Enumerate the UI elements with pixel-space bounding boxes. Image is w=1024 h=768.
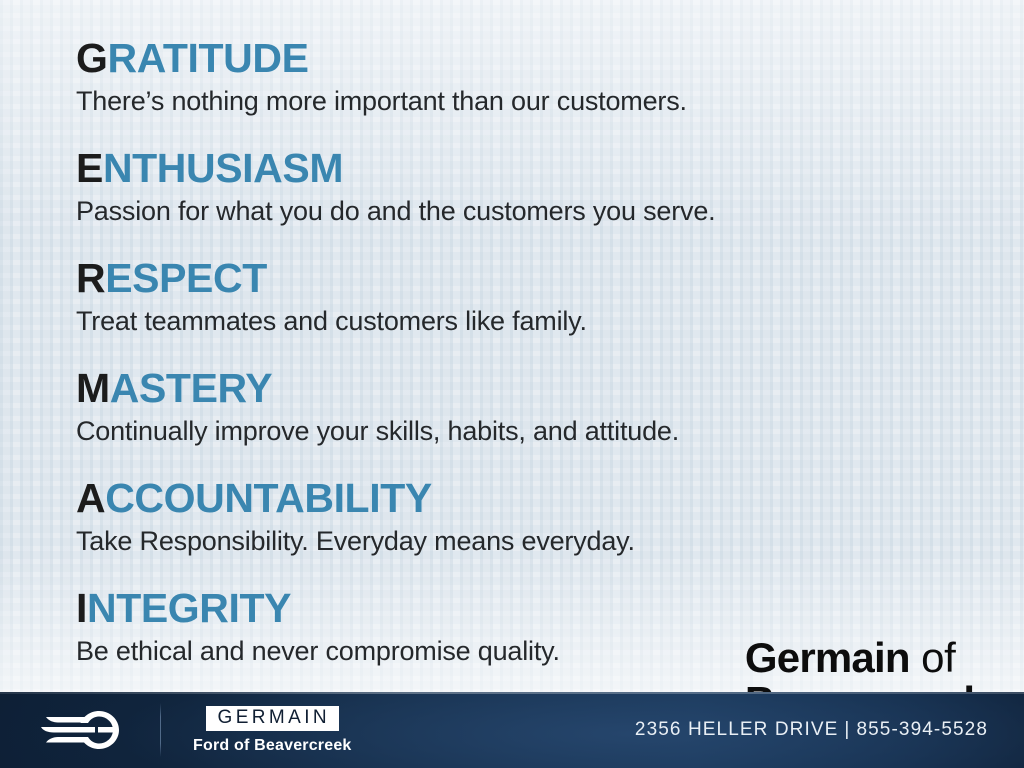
footer-contact-info: 2356 HELLER DRIVE|855-394-5528 [635,719,1024,741]
dealer-phone: 855-394-5528 [856,719,988,740]
germain-wordmark: GERMAIN [206,706,339,731]
value-subtitle-gratitude: There’s nothing more important than our … [76,88,1024,115]
brand-lockup-strong: Germain [745,634,910,681]
value-block-enthusiasm: ENTHUSIASM Passion for what you do and t… [0,148,1024,225]
value-lead-letter: E [76,145,103,191]
value-block-respect: RESPECT Treat teammates and customers li… [0,258,1024,335]
value-heading-gratitude: GRATITUDE [76,38,1024,79]
germain-winged-g-logo-icon [40,707,124,753]
footer-wordmark-group: GERMAIN Ford of Beavercreek [193,706,352,755]
contact-separator: | [838,719,856,740]
value-lead-letter: G [76,35,108,81]
value-lead-letter: M [76,365,110,411]
footer-bar: GERMAIN Ford of Beavercreek 2356 HELLER … [0,692,1024,768]
value-block-mastery: MASTERY Continually improve your skills,… [0,368,1024,445]
value-block-gratitude: GRATITUDE There’s nothing more important… [0,38,1024,115]
value-lead-letter: A [76,475,105,521]
dealer-address: 2356 HELLER DRIVE [635,719,839,740]
value-rest-letters: ASTERY [110,365,272,411]
value-subtitle-enthusiasm: Passion for what you do and the customer… [76,198,1024,225]
value-rest-letters: CCOUNTABILITY [105,475,432,521]
value-heading-accountability: ACCOUNTABILITY [76,478,1024,519]
value-block-accountability: ACCOUNTABILITY Take Responsibility. Ever… [0,478,1024,555]
value-rest-letters: RATITUDE [108,35,309,81]
value-heading-integrity: INTEGRITY [76,588,1024,629]
value-rest-letters: NTHUSIASM [103,145,343,191]
value-heading-respect: RESPECT [76,258,1024,299]
value-lead-letter: I [76,585,87,631]
value-subtitle-mastery: Continually improve your skills, habits,… [76,418,1024,445]
value-heading-mastery: MASTERY [76,368,1024,409]
store-name: Ford of Beavercreek [193,738,352,755]
value-rest-letters: ESPECT [105,255,267,301]
footer-brand-group: GERMAIN Ford of Beavercreek [0,703,352,757]
brand-lockup-light: of [910,634,956,681]
values-poster: GRATITUDE There’s nothing more important… [0,0,1024,768]
values-list: GRATITUDE There’s nothing more important… [0,0,1024,739]
footer-divider [160,703,161,757]
value-lead-letter: R [76,255,105,301]
value-subtitle-accountability: Take Responsibility. Everyday means ever… [76,528,1024,555]
value-rest-letters: NTEGRITY [87,585,291,631]
value-subtitle-respect: Treat teammates and customers like famil… [76,308,1024,335]
footer-top-highlight [0,692,1024,694]
value-heading-enthusiasm: ENTHUSIASM [76,148,1024,189]
